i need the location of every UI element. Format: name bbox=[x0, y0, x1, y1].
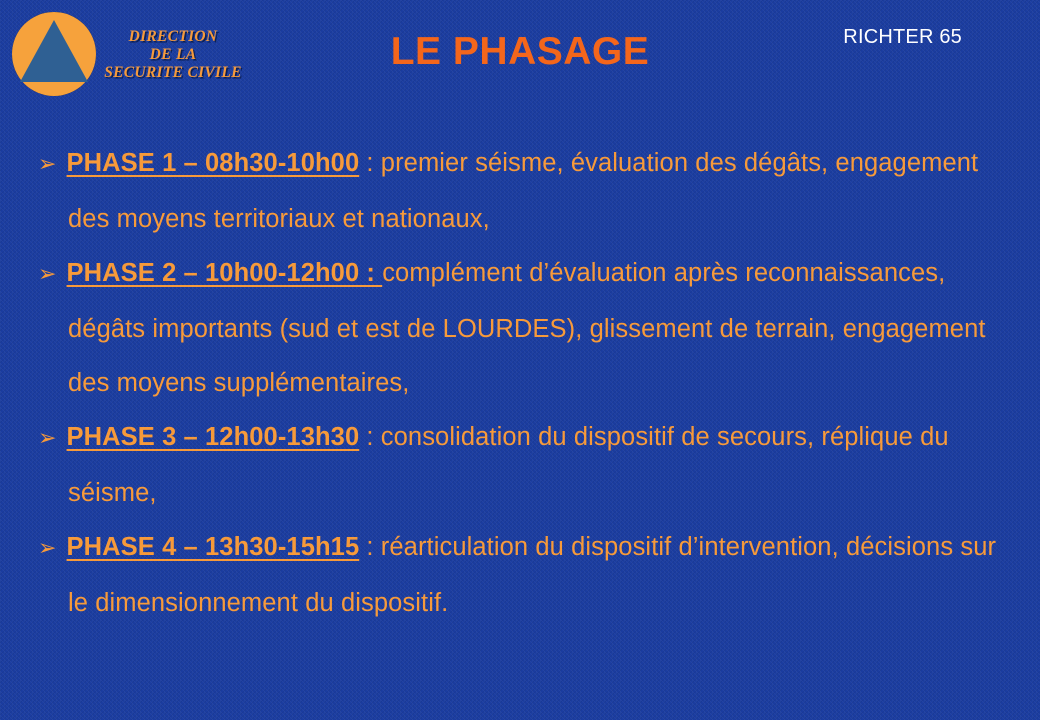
list-item: ➢PHASE 1 – 08h30-10h00 : premier séisme,… bbox=[38, 136, 1006, 246]
page-title: LE PHASAGE bbox=[280, 30, 760, 74]
list-item: ➢PHASE 4 – 13h30-15h15 : réarticulation … bbox=[38, 520, 1006, 630]
phase-list: ➢PHASE 1 – 08h30-10h00 : premier séisme,… bbox=[38, 136, 1006, 630]
bullet-arrow-icon: ➢ bbox=[38, 536, 67, 561]
list-item: ➢PHASE 3 – 12h00-13h30 : consolidation d… bbox=[38, 410, 1006, 520]
organization-logo-block: DIRECTION DE LA SECURITE CIVILE bbox=[6, 6, 256, 102]
bullet-arrow-icon: ➢ bbox=[38, 262, 67, 287]
slide-canvas: DIRECTION DE LA SECURITE CIVILE LE PHASA… bbox=[0, 0, 1040, 720]
bullet-arrow-icon: ➢ bbox=[38, 152, 67, 177]
phase-label: PHASE 4 – 13h30-15h15 bbox=[67, 533, 360, 561]
organization-name: DIRECTION DE LA SECURITE CIVILE bbox=[88, 28, 258, 82]
phase-label: PHASE 2 – 10h00-12h00 : bbox=[67, 259, 383, 287]
civil-protection-triangle-logo-icon bbox=[8, 10, 100, 98]
phase-label: PHASE 3 – 12h00-13h30 bbox=[67, 423, 360, 451]
list-item: ➢PHASE 2 – 10h00-12h00 : complément d’év… bbox=[38, 246, 1006, 410]
bullet-arrow-icon: ➢ bbox=[38, 426, 67, 451]
scale-label: RICHTER 65 bbox=[843, 25, 962, 49]
phase-label: PHASE 1 – 08h30-10h00 bbox=[67, 149, 360, 177]
